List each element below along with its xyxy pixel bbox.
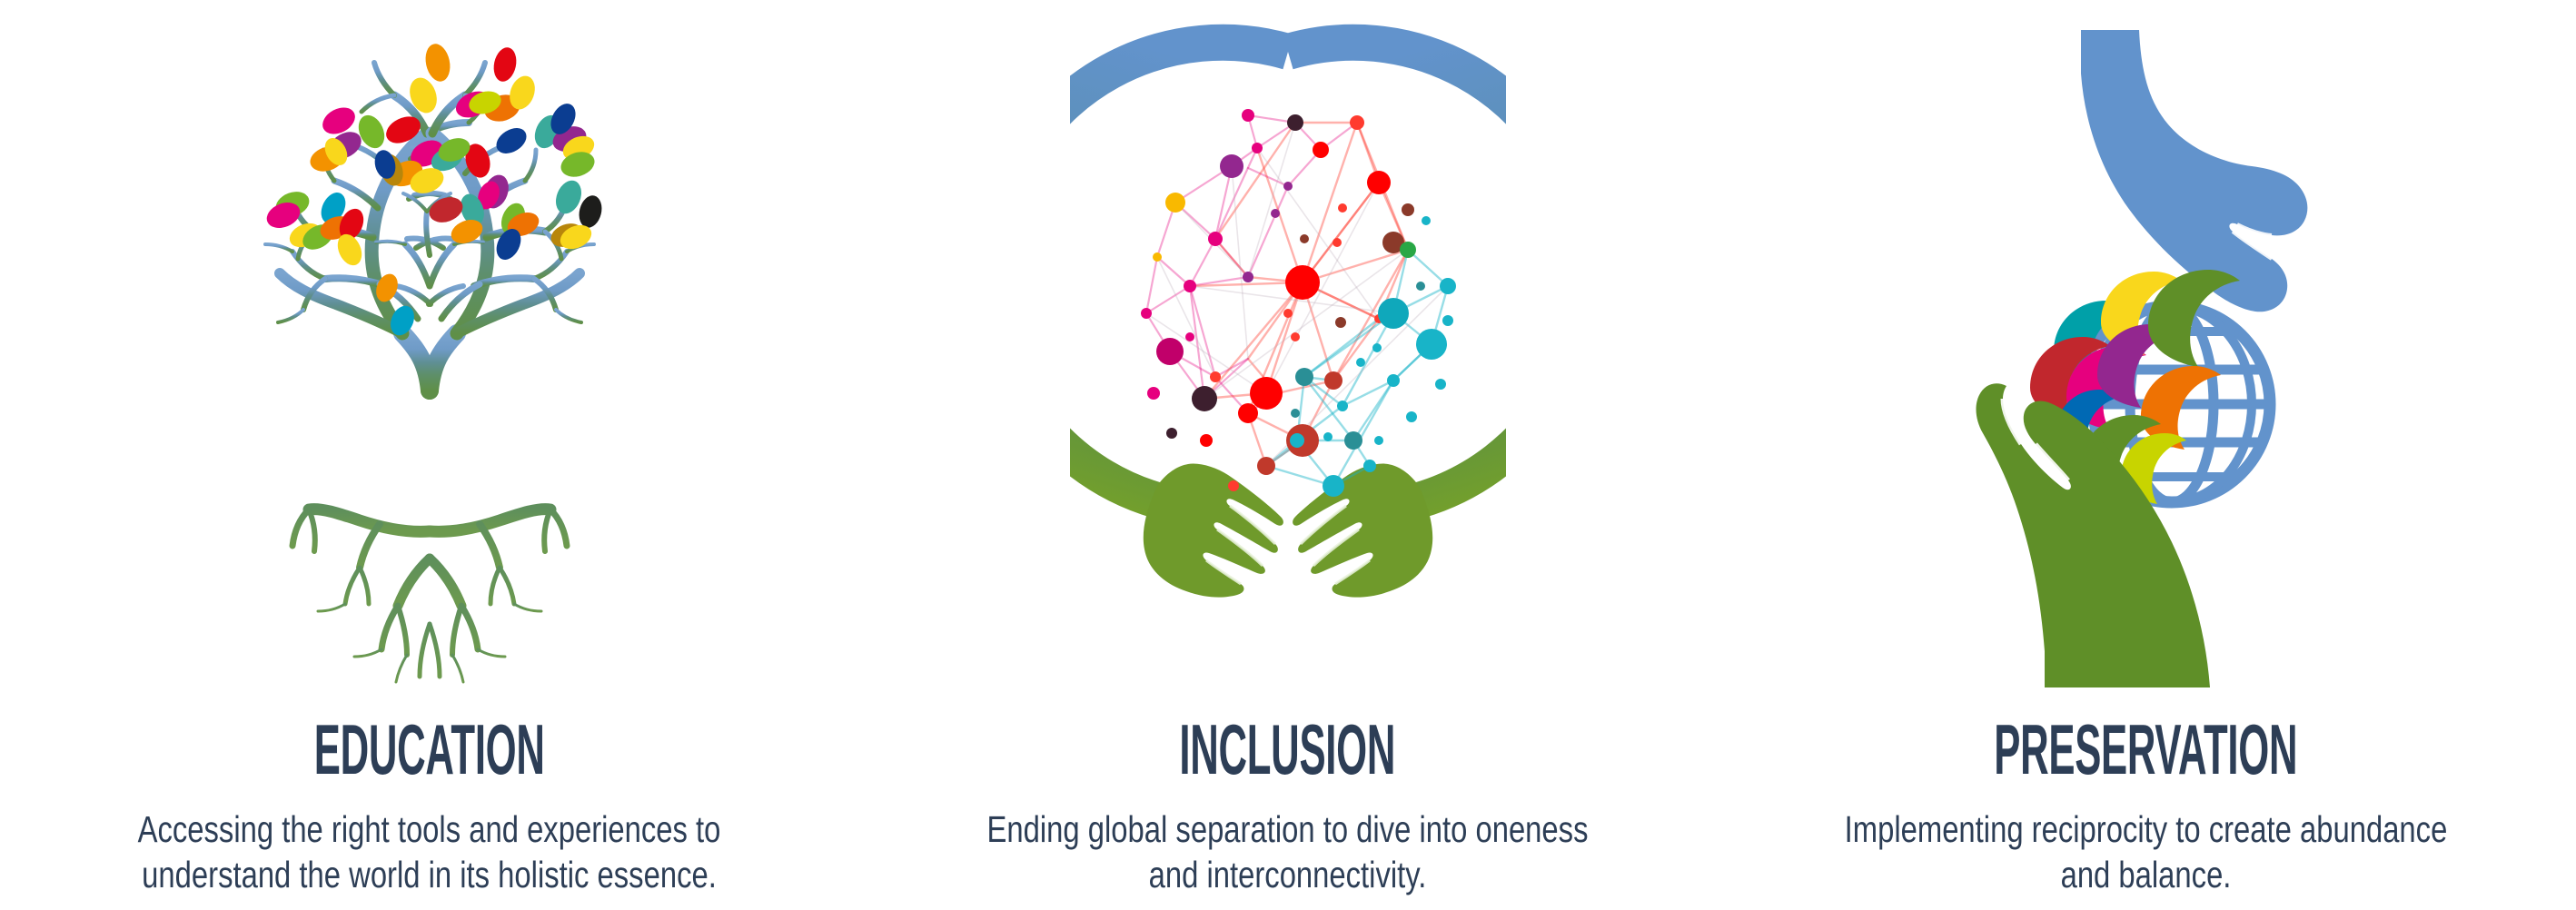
pillar-education: EDUCATION Accessing the right tools and … [0,0,858,910]
education-icon-wrap [0,0,858,717]
network-nodes [1141,109,1456,497]
preservation-title-slot: PRESERVATION [1717,717,2575,801]
preservation-icon-wrap [1717,0,2575,717]
preservation-description: Implementing reciprocity to create abund… [1803,806,2490,897]
preservation-desc-slot: Implementing reciprocity to create abund… [1717,801,2575,897]
education-desc-slot: Accessing the right tools and experience… [0,801,858,897]
pillar-inclusion: INCLUSION Ending global separation to di… [858,0,1717,910]
education-title-slot: EDUCATION [0,717,858,801]
inclusion-icon-wrap [858,0,1717,717]
globe-with-leaves-in-hands-icon [1947,14,2346,704]
pillar-preservation: PRESERVATION Implementing reciprocity to… [1717,0,2575,910]
pillars-board: EDUCATION Accessing the right tools and … [0,0,2576,910]
tree-of-life-heart-icon [216,14,643,704]
left-hand-icon [1143,464,1283,598]
inclusion-desc-slot: Ending global separation to dive into on… [858,801,1717,897]
network-globe-in-hands-icon [1070,14,1506,704]
page-title-preservation: PRESERVATION [1994,714,2297,785]
page-title-inclusion: INCLUSION [1180,714,1396,785]
page-title-education: EDUCATION [314,714,545,785]
inclusion-title-slot: INCLUSION [858,717,1717,801]
education-description: Accessing the right tools and experience… [86,806,773,897]
inclusion-description: Ending global separation to dive into on… [945,806,1631,897]
right-hand-icon [1293,464,1432,598]
upper-hand-icon [2081,30,2307,312]
